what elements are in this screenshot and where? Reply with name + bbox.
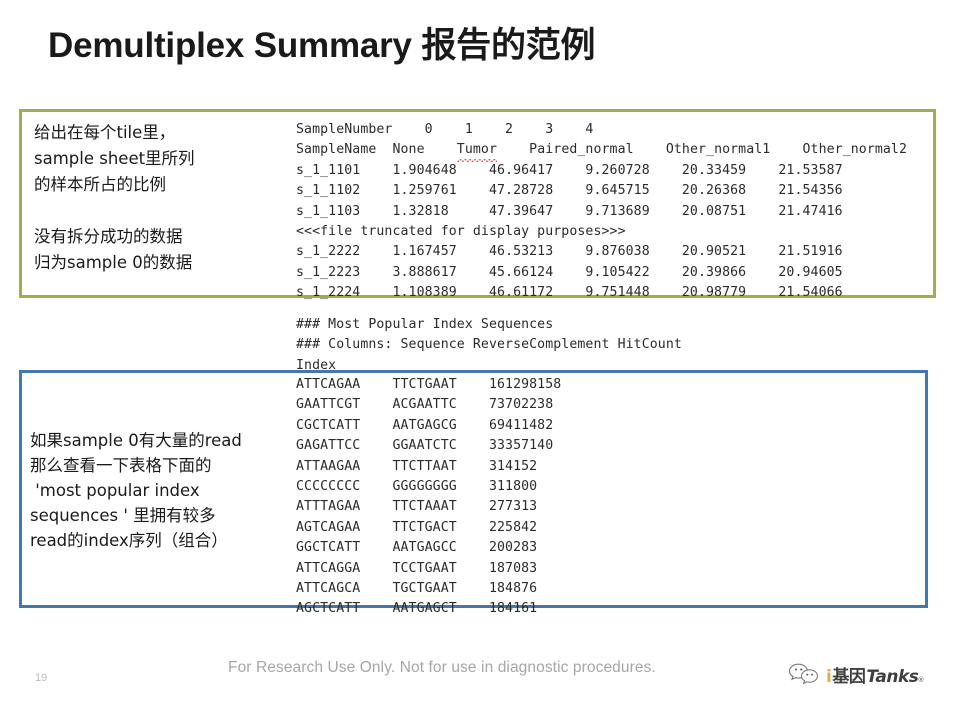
index-row: GAGATTCC GGAATCTC 33357140 [296, 438, 553, 453]
index-row: ATTAAGAA TTCTTAAT 314152 [296, 459, 537, 474]
page-title: Demultiplex Summary 报告的范例 [48, 24, 595, 69]
brand-logo: i基因Tanks® [788, 652, 944, 696]
brand-logo-text: i基因Tanks® [826, 662, 923, 687]
summary-header-tumor-misspelled: Tumor [457, 140, 497, 160]
popular-index-columns-line: ### Columns: Sequence ReverseComplement … [296, 337, 682, 352]
summary-row: s_1_2222 1.167457 46.53213 9.876038 20.9… [296, 244, 843, 259]
most-popular-index-header: ### Most Popular Index Sequences ### Col… [296, 315, 682, 376]
demultiplex-summary-table: SampleNumber 0 1 2 3 4 SampleName None T… [296, 120, 907, 304]
summary-row: s_1_1103 1.32818 47.39647 9.713689 20.08… [296, 204, 843, 219]
page-number: 19 [35, 672, 47, 684]
page-title-cjk: 报告的范例 [421, 26, 595, 66]
chat-bubbles-icon [788, 661, 822, 687]
summary-row: s_1_1102 1.259761 47.28728 9.645715 20.2… [296, 183, 843, 198]
summary-header-samplenumber: SampleNumber 0 1 2 3 4 [296, 122, 593, 137]
index-sequence-table: ATTCAGAA TTCTGAAT 161298158 GAATTCGT ACG… [296, 375, 561, 620]
summary-header-samplename-post: Paired_normal Other_normal1 Other_normal… [497, 142, 907, 157]
index-row: AGCTCATT AATGAGCT 184161 [296, 601, 537, 616]
index-row: ATTCAGAA TTCTGAAT 161298158 [296, 377, 561, 392]
index-row: GAATTCGT ACGAATTC 73702238 [296, 397, 553, 412]
summary-row: s_1_1101 1.904648 46.96417 9.260728 20.3… [296, 163, 843, 178]
green-box-annotation: 给出在每个tile里， sample sheet里所列 的样本所占的比例 没有拆… [34, 120, 289, 276]
index-row: ATTCAGGA TCCTGAAT 187083 [296, 561, 537, 576]
research-use-only-disclaimer: For Research Use Only. Not for use in di… [228, 659, 656, 677]
summary-truncation-notice: <<<file truncated for display purposes>>… [296, 224, 626, 239]
logo-cjk-text: 基因 [832, 662, 865, 687]
index-row: AGTCAGAA TTCTGACT 225842 [296, 520, 537, 535]
logo-latin-text: Tanks [866, 667, 918, 687]
index-row: GGCTCATT AATGAGCC 200283 [296, 540, 537, 555]
summary-row: s_1_2224 1.108389 46.61172 9.751448 20.9… [296, 285, 843, 300]
popular-index-title-line: ### Most Popular Index Sequences [296, 317, 553, 332]
slide-canvas: Demultiplex Summary 报告的范例 给出在每个tile里， sa… [0, 0, 960, 720]
index-row: CCCCCCCC GGGGGGGG 311800 [296, 479, 537, 494]
logo-accent-letter: i [826, 667, 831, 687]
index-row: ATTCAGCA TGCTGAAT 184876 [296, 581, 537, 596]
blue-box-annotation: 如果sample 0有大量的read 那么查看一下表格下面的 'most pop… [30, 428, 298, 553]
summary-row: s_1_2223 3.888617 45.66124 9.105422 20.3… [296, 265, 843, 280]
logo-registered-mark: ® [918, 677, 923, 684]
page-title-latin: Demultiplex Summary [48, 26, 421, 65]
summary-header-samplename-pre: SampleName None [296, 142, 457, 157]
index-row: CGCTCATT AATGAGCG 69411482 [296, 418, 553, 433]
index-row: ATTTAGAA TTCTAAAT 277313 [296, 499, 537, 514]
